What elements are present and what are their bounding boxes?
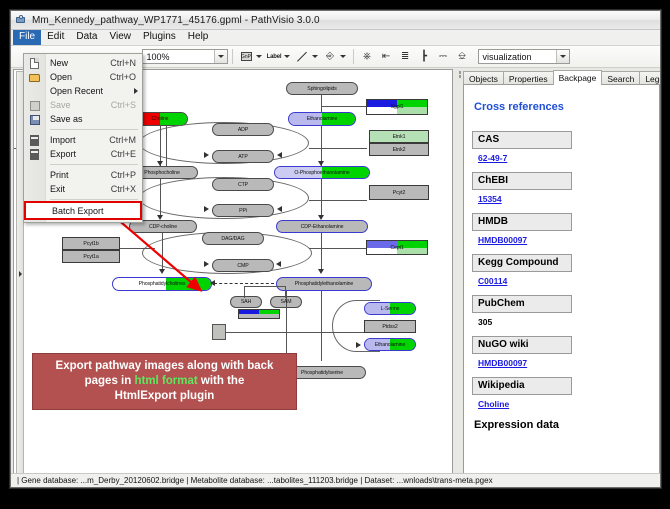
geneproduct-dropdown-icon[interactable] <box>256 55 262 58</box>
node-pcyt2[interactable]: Pcyt2 <box>369 185 429 200</box>
node-label: Phosphocholine <box>144 170 180 176</box>
backpage-entry-chebi: ChEBI 15354 <box>472 170 651 204</box>
line-dropdown-icon[interactable] <box>312 55 318 58</box>
group-icon: ⎓ <box>439 52 447 62</box>
arrow-icon <box>276 261 281 267</box>
tab-properties[interactable]: Properties <box>503 71 554 85</box>
callout-line2b: with the <box>198 375 245 387</box>
backpage-entry-wikipedia: Wikipedia Choline <box>472 375 651 409</box>
arrow-icon <box>318 269 324 274</box>
title-bar: Mm_Kennedy_pathway_WP1771_45176.gpml - P… <box>11 11 660 30</box>
node-label: O-Phosphoethanolamine <box>294 170 349 176</box>
arrow-icon <box>277 206 282 212</box>
menu-item-label: Open Recent <box>50 86 134 96</box>
node-adp[interactable]: ADP <box>212 123 274 136</box>
callout-annotation: Export pathway images along with back pa… <box>32 353 297 410</box>
geneproduct-icon: GnP <box>241 52 252 61</box>
align-left-button[interactable]: ⇤ <box>378 48 395 65</box>
node-label: Etnk1 <box>393 134 406 140</box>
edge <box>321 233 322 272</box>
menu-bar: File Edit Data View Plugins Help <box>11 30 660 46</box>
node-label: Phosphatidylserine <box>301 370 343 376</box>
menu-item-batch-export[interactable]: Batch Export <box>26 203 140 218</box>
import-icon <box>28 135 41 146</box>
entry-label: NuGO wiki <box>472 336 572 354</box>
edge <box>321 179 322 217</box>
cross-references-heading: Cross references <box>474 101 651 113</box>
group-button[interactable]: ⎓ <box>435 48 452 65</box>
distribute-icon: ┣ <box>421 52 427 62</box>
menu-item-new[interactable]: New Ctrl+N <box>24 56 142 70</box>
entry-link[interactable]: Choline <box>478 399 651 409</box>
node-atp[interactable]: ATP <box>212 150 274 163</box>
menu-item-label: Open <box>50 72 110 82</box>
entry-label: CAS <box>472 131 572 149</box>
expression-data-heading: Expression data <box>474 419 651 431</box>
node-phosphatidylcholines[interactable]: Phosphatidylcholines <box>112 277 212 291</box>
node-label: ADP <box>238 127 248 133</box>
geneproduct-button[interactable]: GnP <box>238 48 255 65</box>
entry-link[interactable]: 15354 <box>478 194 651 204</box>
zoom-value: 100% <box>147 52 214 62</box>
menu-edit[interactable]: Edit <box>41 30 70 45</box>
side-panel-tabs: Objects Properties Backpage Search Legen… <box>463 70 660 85</box>
stack-vertical-icon: ≣ <box>401 52 409 62</box>
node-label: Choline <box>152 116 169 122</box>
arrow-icon <box>204 152 209 158</box>
backpage-entry-kegg: Kegg Compound C00114 <box>472 252 651 286</box>
menu-item-accel: Ctrl+P <box>111 170 142 180</box>
edge <box>160 179 161 217</box>
line-button[interactable] <box>294 48 311 65</box>
label-icon: Label <box>267 54 282 60</box>
edge-dashed <box>214 283 274 284</box>
menu-file[interactable]: File <box>13 30 41 45</box>
backpage-entry-nugo: NuGO wiki HMDB00097 <box>472 334 651 368</box>
node-label: Ethanolamine <box>375 342 406 348</box>
align-top-icon: ⎈ <box>363 52 371 62</box>
node-sah[interactable]: SAH <box>230 296 262 308</box>
status-text: | Gene database: ...m_Derby_20120602.bri… <box>17 476 493 485</box>
menu-item-label: Batch Export <box>52 206 140 216</box>
line-icon <box>296 51 308 63</box>
edge <box>321 291 322 361</box>
label-dropdown-icon[interactable] <box>284 55 290 58</box>
node-ppi[interactable]: PPi <box>212 204 274 217</box>
pathvisio-window: Mm_Kennedy_pathway_WP1771_45176.gpml - P… <box>10 10 661 488</box>
tab-objects[interactable]: Objects <box>463 71 504 85</box>
node-etnk1[interactable]: Etnk1 <box>369 130 429 143</box>
node-o-phosphoethanolamine[interactable]: O-Phosphoethanolamine <box>274 166 370 179</box>
open-folder-icon <box>28 72 41 83</box>
menu-item-label: Save as <box>50 114 136 124</box>
menu-item-accel: Ctrl+X <box>111 184 142 194</box>
interaction-dropdown-icon[interactable] <box>340 55 346 58</box>
node-label: CDP-Ethanolamine <box>301 224 344 230</box>
menu-item-open[interactable]: Open Ctrl+O <box>24 70 142 84</box>
edge <box>214 332 364 333</box>
edge <box>321 106 366 107</box>
menu-item-accel: Ctrl+O <box>110 72 142 82</box>
zoom-combo[interactable]: 100% <box>142 49 228 64</box>
menu-item-label: Export <box>50 149 111 159</box>
edge <box>160 126 161 166</box>
node-label: Pcyt1a <box>83 254 98 260</box>
backpage-entry-cas: CAS 62-49-7 <box>472 129 651 163</box>
side-panel: Objects Properties Backpage Search Legen… <box>457 69 660 487</box>
entry-label: HMDB <box>472 213 572 231</box>
node-label: Pcyt1b <box>83 241 98 247</box>
arrow-icon <box>204 261 209 267</box>
menu-item-label: New <box>50 58 110 68</box>
tab-search[interactable]: Search <box>601 71 640 85</box>
edge <box>162 233 163 272</box>
edge <box>309 200 367 201</box>
node-etnk2[interactable]: Etnk2 <box>369 143 429 156</box>
node-pcyt1b[interactable]: Pcyt1b <box>62 237 120 250</box>
menu-item-label: Import <box>50 135 109 145</box>
callout-line3: HtmlExport plugin <box>115 390 215 402</box>
node-label: Cept1 <box>390 245 403 251</box>
node-cmp[interactable]: CMP <box>212 259 274 272</box>
ungroup-icon: ⎒ <box>458 52 466 62</box>
menu-item-open-recent[interactable]: Open Recent <box>24 84 142 98</box>
visualization-combo[interactable]: visualization <box>478 49 570 64</box>
chevron-down-icon-2[interactable] <box>556 50 569 63</box>
menu-separator <box>50 129 138 130</box>
menu-separator-2 <box>50 164 138 165</box>
node-label: Pcyt2 <box>393 190 405 196</box>
menu-plugins[interactable]: Plugins <box>137 30 182 45</box>
entry-link[interactable]: C00114 <box>478 276 651 286</box>
menu-help[interactable]: Help <box>182 30 215 45</box>
node-label: DAG/DAG <box>221 236 244 242</box>
backpage-content: Cross references CAS 62-49-7 ChEBI 15354… <box>463 84 660 478</box>
node-connector-box[interactable] <box>212 324 226 340</box>
menu-separator-3 <box>50 199 138 200</box>
edge <box>309 148 367 149</box>
menu-item-label: Save <box>50 100 111 110</box>
submenu-arrow-icon <box>134 88 138 94</box>
interaction-button[interactable]: ⎆ <box>322 48 339 65</box>
node-label: Phosphatidylcholines <box>139 281 186 287</box>
node-label: CTP <box>238 182 248 188</box>
menu-item-accel: Ctrl+N <box>110 58 142 68</box>
menu-item-label: Exit <box>50 184 111 194</box>
entry-label: Kegg Compound <box>472 254 572 272</box>
menu-item-accel: Ctrl+E <box>111 149 142 159</box>
menu-item-save: Save Ctrl+S <box>24 98 142 112</box>
tab-legend[interactable]: Legend <box>639 71 661 85</box>
node-gene-small[interactable] <box>238 309 280 319</box>
menu-data[interactable]: Data <box>70 30 103 45</box>
entry-link[interactable]: HMDB00097 <box>478 358 651 368</box>
node-label: SAM <box>281 299 292 305</box>
node-label: SAH <box>241 299 251 305</box>
align-top-button[interactable]: ⎈ <box>359 48 376 65</box>
visualization-value: visualization <box>483 52 556 62</box>
menu-item-save-as[interactable]: Save as <box>24 112 142 126</box>
window-title: Mm_Kennedy_pathway_WP1771_45176.gpml - P… <box>32 15 320 26</box>
node-sgpl1[interactable]: Sgpl1 <box>366 99 428 115</box>
node-phosphatidylethanolamine[interactable]: Phosphatidylethanolamine <box>276 277 372 291</box>
node-label: Etnk2 <box>393 147 406 153</box>
callout-highlight: html format <box>134 375 197 387</box>
callout-line2a: pages in <box>85 375 135 387</box>
menu-item-import[interactable]: Import Ctrl+M <box>24 133 142 147</box>
node-cdp-ethanolamine[interactable]: CDP-Ethanolamine <box>276 220 368 233</box>
stack-vertical-button[interactable]: ≣ <box>397 48 414 65</box>
entry-link[interactable]: 62-49-7 <box>478 153 651 163</box>
chevron-down-icon[interactable] <box>214 50 227 63</box>
tab-backpage[interactable]: Backpage <box>553 70 603 85</box>
edge <box>309 248 367 249</box>
node-pcyt1a[interactable]: Pcyt1a <box>62 250 120 263</box>
entry-label: PubChem <box>472 295 572 313</box>
menu-item-exit[interactable]: Exit Ctrl+X <box>24 182 142 196</box>
edge <box>119 248 155 249</box>
entry-label: Wikipedia <box>472 377 572 395</box>
node-label: PPi <box>239 208 247 214</box>
distribute-button[interactable]: ┣ <box>416 48 433 65</box>
node-label: L-Serine <box>381 306 400 312</box>
node-cept1[interactable]: Cept1 <box>366 240 428 255</box>
arrow-icon <box>277 152 282 158</box>
align-left-icon: ⇤ <box>382 52 390 62</box>
node-sphingolipids[interactable]: Sphingolipids <box>286 82 358 95</box>
arrow-icon <box>204 206 209 212</box>
save-disk-icon <box>28 100 41 111</box>
interaction-icon: ⎆ <box>326 52 334 62</box>
screenshot-root: Mm_Kennedy_pathway_WP1771_45176.gpml - P… <box>0 0 670 509</box>
menu-view[interactable]: View <box>103 30 137 45</box>
node-label: Ptdss2 <box>382 324 397 330</box>
menu-item-export[interactable]: Export Ctrl+E <box>24 147 142 161</box>
file-menu-popup[interactable]: New Ctrl+N Open Ctrl+O Open Recent Save … <box>23 53 143 223</box>
node-label: Phosphatidylethanolamine <box>295 281 353 287</box>
save-as-icon <box>28 114 41 125</box>
status-bar: | Gene database: ...m_Derby_20120602.bri… <box>11 473 661 487</box>
menu-item-label: Print <box>50 170 111 180</box>
new-document-icon <box>28 58 41 69</box>
edge <box>244 286 286 287</box>
backpage-entry-hmdb: HMDB HMDB00097 <box>472 211 651 245</box>
node-ethanolamine[interactable]: Ethanolamine <box>288 112 356 126</box>
menu-item-accel: Ctrl+S <box>111 100 142 110</box>
arrow-icon <box>210 280 215 286</box>
arrow-icon <box>356 342 361 348</box>
arrow-icon <box>159 269 165 274</box>
menu-item-print[interactable]: Print Ctrl+P <box>24 168 142 182</box>
node-dag[interactable]: DAG/DAG <box>202 232 264 245</box>
export-icon <box>28 149 41 160</box>
backpage-entry-pubchem: PubChem 305 <box>472 293 651 327</box>
callout-line1: Export pathway images along with back <box>56 360 274 372</box>
node-label: CDP-choline <box>149 224 177 230</box>
node-ctp[interactable]: CTP <box>212 178 274 191</box>
menu-item-accel: Ctrl+M <box>109 135 142 145</box>
entry-value: 305 <box>478 317 651 327</box>
node-label: Ethanolamine <box>307 116 338 122</box>
pathvisio-icon <box>15 14 27 26</box>
node-label: ATP <box>238 154 247 160</box>
edge <box>321 126 322 166</box>
label-button[interactable]: Label <box>266 48 283 65</box>
edge <box>244 286 245 298</box>
entry-label: ChEBI <box>472 172 572 190</box>
entry-link[interactable]: HMDB00097 <box>478 235 651 245</box>
ungroup-button[interactable]: ⎒ <box>454 48 471 65</box>
node-label: Sgpl1 <box>391 104 404 110</box>
node-label: Sphingolipids <box>307 86 337 92</box>
node-label: CMP <box>237 263 248 269</box>
